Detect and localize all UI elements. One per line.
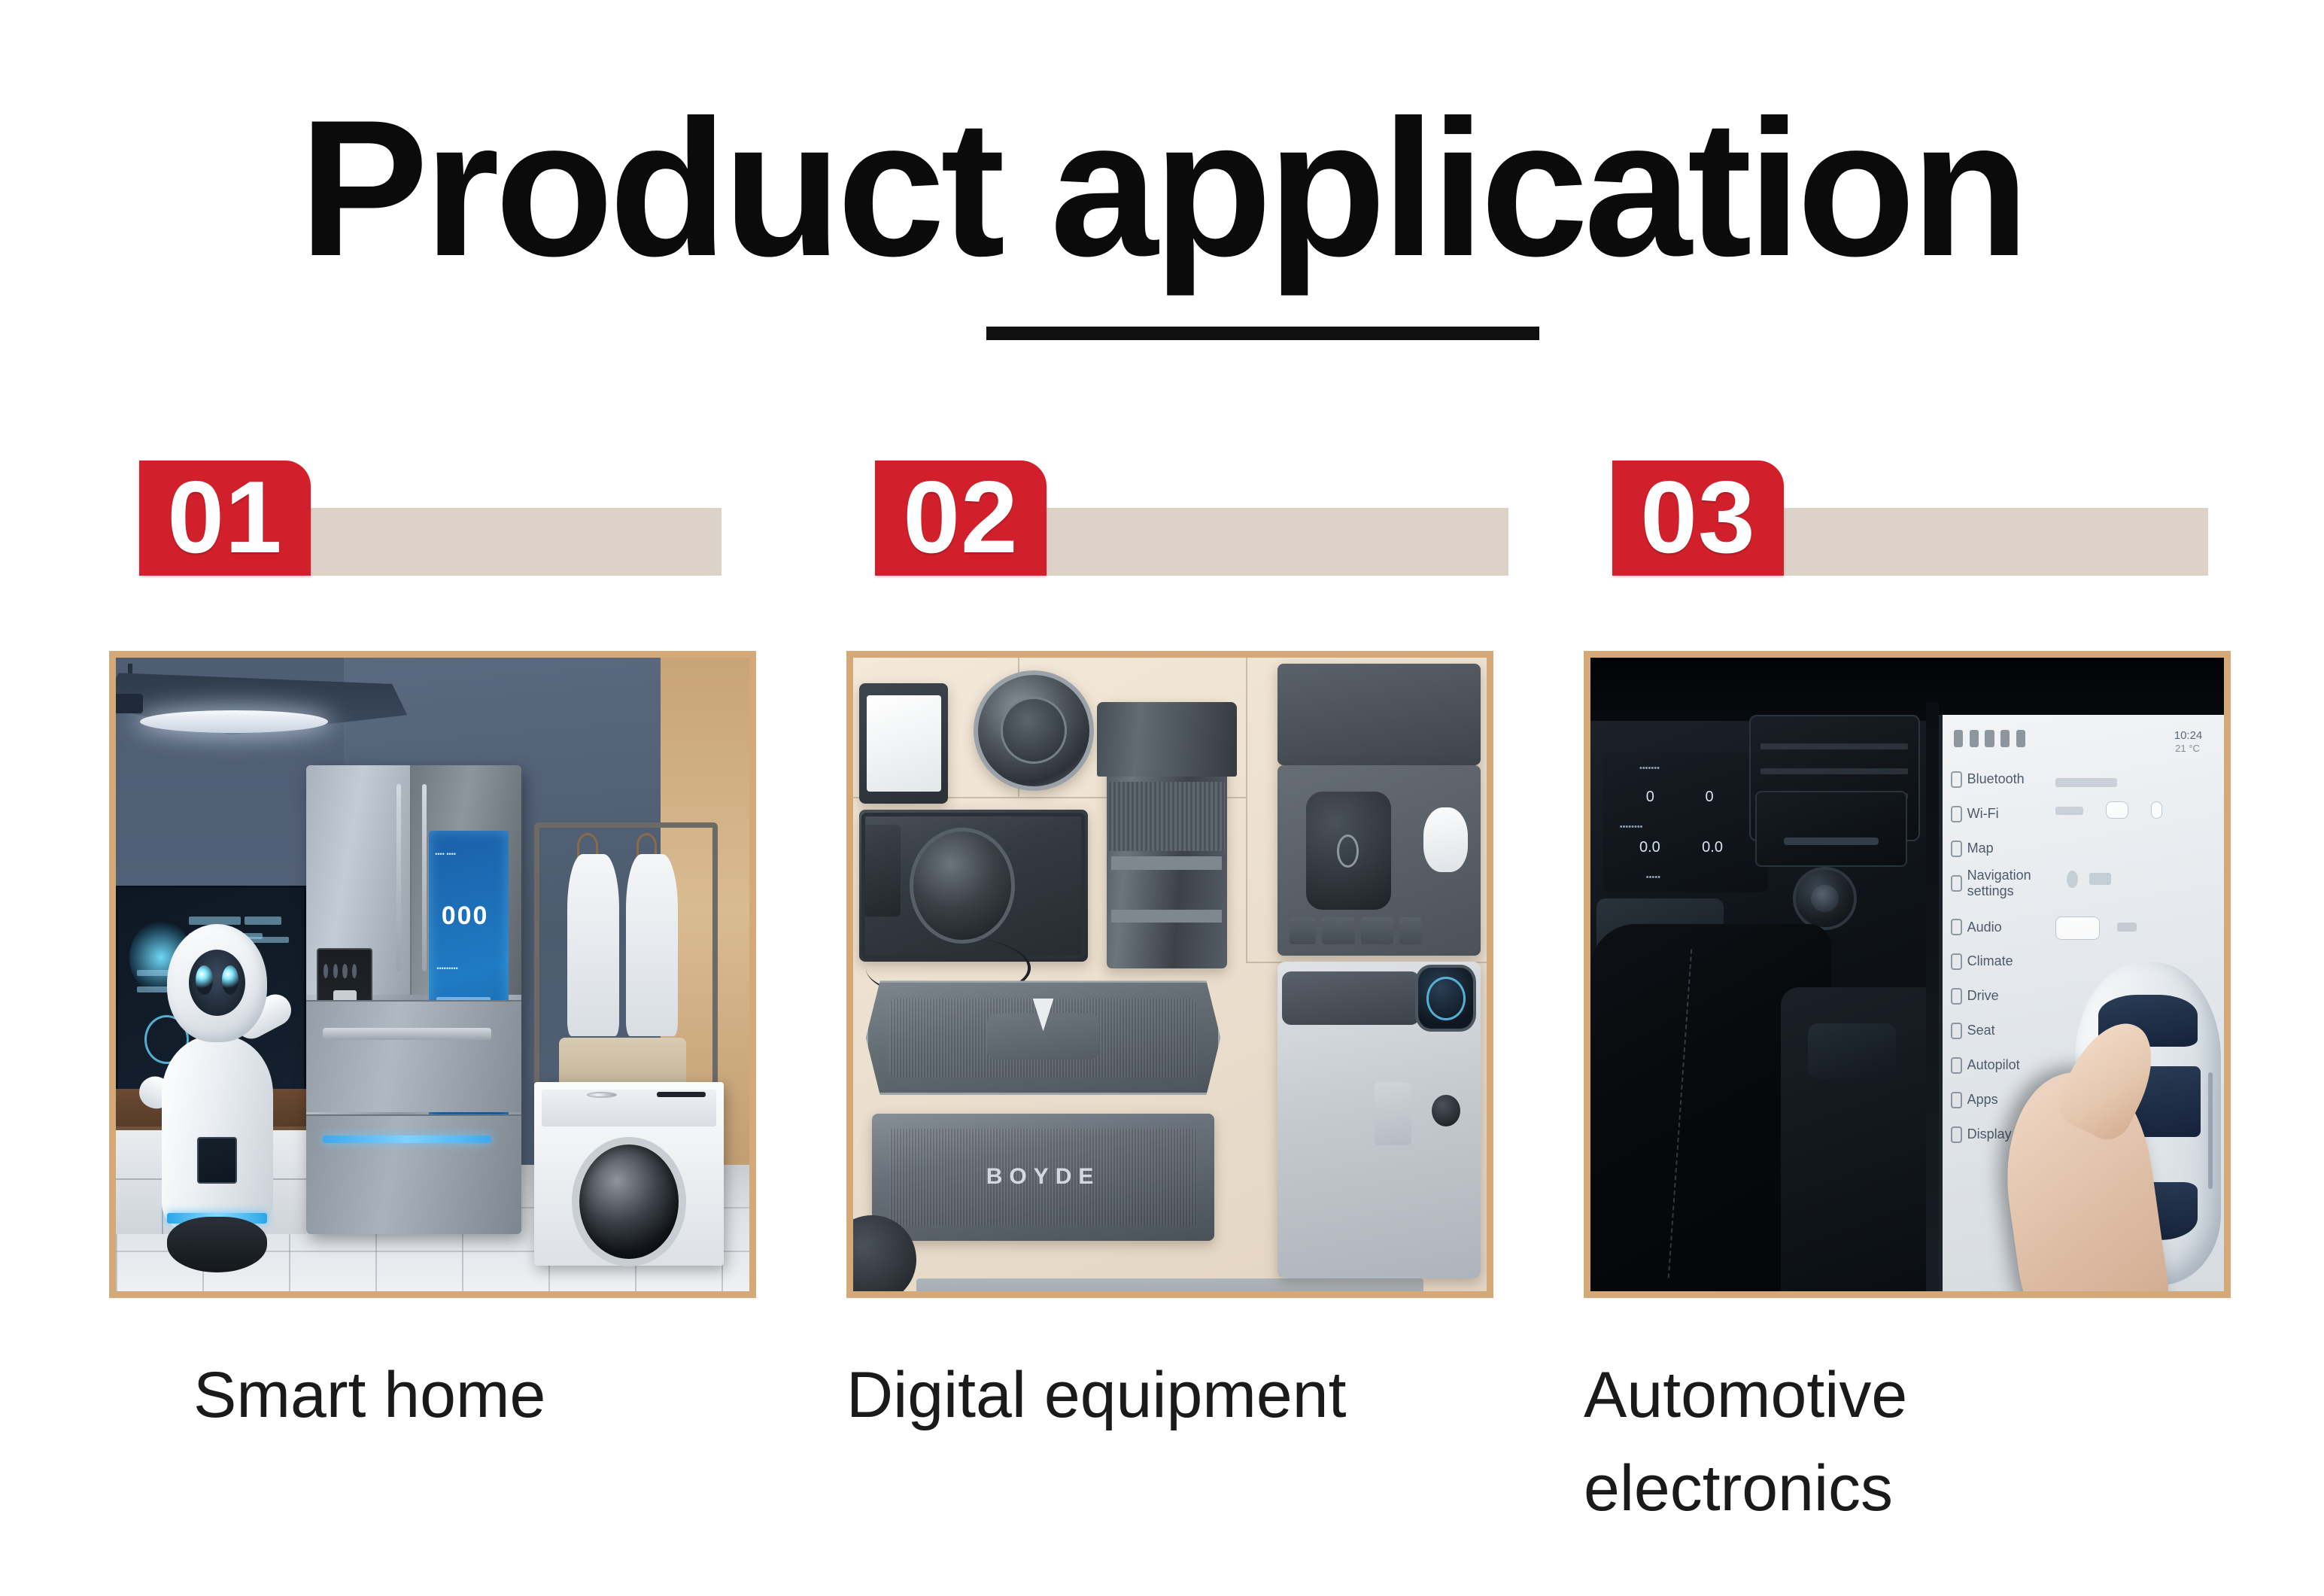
menu-item-label[interactable]: Bluetooth xyxy=(1967,767,2025,792)
menu-icon xyxy=(1951,988,1962,1005)
washing-machine xyxy=(534,1082,725,1266)
menu-icon xyxy=(1951,1023,1962,1039)
tablet xyxy=(1277,962,1480,1278)
field-monitor xyxy=(859,683,948,804)
menu-icon xyxy=(1951,1057,1962,1074)
number-badge-label: 03 xyxy=(1612,461,1784,576)
application-card-03[interactable]: 03 ••••••• 0 0 •••••••• 0.0 0.0 xyxy=(1612,461,2259,1552)
menu-item-label[interactable]: Drive xyxy=(1967,983,1999,1009)
menu-item-label[interactable]: Navigation settings xyxy=(1967,871,2036,896)
center-console xyxy=(1781,987,1933,1291)
smart-refrigerator: •••• •••• 000 ••••••••• xyxy=(306,765,521,1234)
speaker-brand-label: BOYDE xyxy=(872,1164,1214,1190)
menu-icon xyxy=(1951,875,1962,892)
page-title: Product application xyxy=(0,90,2324,286)
title-block: Product application xyxy=(0,90,2324,361)
slide-canvas: Product application 01 xyxy=(0,0,2324,1596)
menu-item-label[interactable]: Autopilot xyxy=(1967,1053,2020,1078)
menu-icon xyxy=(1951,919,1962,935)
screen-status-bar: 10:24 21 °C xyxy=(1954,726,2213,755)
center-touchscreen[interactable]: 10:24 21 °C Bluetooth Wi-Fi Map Navigati… xyxy=(1939,715,2224,1291)
smartwatch-face xyxy=(1415,965,1476,1031)
card-header-03: 03 xyxy=(1612,461,2259,577)
camera-lens xyxy=(1107,702,1227,968)
keyboard-deck xyxy=(1277,765,1480,956)
home-robot xyxy=(147,924,287,1272)
menu-icon xyxy=(1951,953,1962,970)
laptop-lid xyxy=(1277,664,1480,765)
menu-item-label[interactable]: Climate xyxy=(1967,949,2013,974)
menu-item-label[interactable]: Apps xyxy=(1967,1087,1998,1113)
bluetooth-speaker-large xyxy=(866,980,1221,1095)
number-badge-label: 01 xyxy=(139,461,311,576)
number-badge-label: 02 xyxy=(875,461,1047,576)
menu-icon xyxy=(1951,771,1962,788)
menu-item-label[interactable]: Map xyxy=(1967,836,1994,862)
mouse xyxy=(1423,807,1468,872)
menu-item-label[interactable]: Wi-Fi xyxy=(1967,801,1999,827)
menu-item-label[interactable]: Display xyxy=(1967,1122,2012,1148)
number-badge-03: 03 xyxy=(1612,461,1784,576)
photo-frame-01[interactable]: •••• •••• 000 ••••••••• xyxy=(109,651,756,1298)
menu-icon xyxy=(1951,806,1962,822)
column-grid: 01 xyxy=(0,461,2324,1552)
header-accent-bar xyxy=(1042,508,1508,576)
photo-automotive-electronics: ••••••• 0 0 •••••••• 0.0 0.0 ••••• xyxy=(1590,658,2224,1291)
card-caption-01: Smart home xyxy=(193,1348,810,1442)
screen-clock: 10:24 xyxy=(2174,729,2203,742)
photo-smart-home: •••• •••• 000 ••••••••• xyxy=(116,658,749,1291)
header-accent-bar xyxy=(306,508,722,576)
air-vent-lower xyxy=(1755,791,1907,867)
card-caption-03: Automotive electronics xyxy=(1584,1348,2201,1535)
photo-frame-02[interactable]: BOYDE xyxy=(846,651,1493,1298)
header-accent-bar xyxy=(1779,508,2208,576)
photo-frame-03[interactable]: ••••••• 0 0 •••••••• 0.0 0.0 ••••• xyxy=(1584,651,2231,1298)
control-knob[interactable] xyxy=(1793,867,1856,930)
menu-icon xyxy=(1951,841,1962,857)
instrument-cluster: ••••••• 0 0 •••••••• 0.0 0.0 ••••• xyxy=(1603,752,1768,892)
number-badge-02: 02 xyxy=(875,461,1047,576)
card-caption-02: Digital equipment xyxy=(846,1348,1463,1442)
application-card-01[interactable]: 01 xyxy=(139,461,786,1552)
application-card-02[interactable]: 02 xyxy=(875,461,1522,1552)
screen-temperature: 21 °C xyxy=(2175,743,2200,754)
menu-icon xyxy=(1951,1092,1962,1108)
title-underline xyxy=(986,327,1539,340)
ceiling-light-icon xyxy=(116,664,407,752)
earbuds-case xyxy=(1306,792,1391,910)
menu-item-label[interactable]: Seat xyxy=(1967,1018,1995,1044)
card-header-02: 02 xyxy=(875,461,1522,577)
photo-digital-equipment: BOYDE xyxy=(853,658,1487,1291)
smartwatch-band xyxy=(1282,971,1420,1026)
lens-cap xyxy=(974,670,1094,791)
menu-icon xyxy=(1951,1126,1962,1143)
number-badge-01: 01 xyxy=(139,461,311,576)
card-header-01: 01 xyxy=(139,461,786,577)
menu-item-label[interactable]: Audio xyxy=(1967,914,2002,940)
bluetooth-speaker-brand: BOYDE xyxy=(872,1114,1214,1240)
